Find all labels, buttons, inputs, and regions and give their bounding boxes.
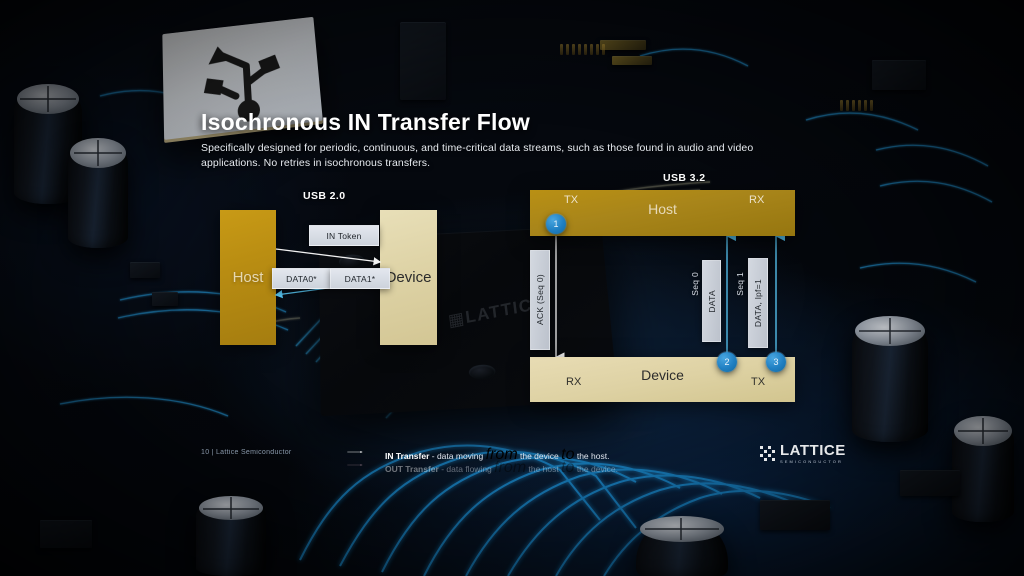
usb3-host-rx-port: RX	[749, 194, 764, 206]
step-badge-3: 3	[766, 352, 786, 372]
usb2-packet-data1: DATA1*	[330, 268, 390, 289]
slide-footer: 10 | Lattice Semiconductor	[201, 449, 292, 456]
usb3-label-seq0: Seq 0	[690, 272, 700, 296]
legend-in-arrow-icon	[332, 451, 378, 453]
usb3-host-tx-port: TX	[564, 194, 578, 206]
legend-out-em2: to	[561, 459, 574, 476]
usb3-device-tx-port: TX	[751, 376, 765, 388]
usb3-packet-data: DATA	[702, 260, 721, 342]
lattice-logo: LATTICE SEMICONDUCTOR	[760, 443, 846, 464]
usb2-packet-in-token: IN Token	[309, 225, 379, 246]
step-badge-1: 1	[546, 214, 566, 234]
legend-out-mid: the host	[526, 464, 561, 474]
slide-root: ▦LATTICE Isochronous IN Transf	[0, 0, 1024, 576]
usb3-packet-ack: ACK (Seq 0)	[530, 250, 550, 350]
legend-row-out: OUT Transfer - data flowing from the hos…	[385, 459, 618, 472]
step-badge-2: 2	[717, 352, 737, 372]
legend-out-pre: - data flowing	[439, 464, 494, 474]
usb2-arrows	[0, 0, 1024, 576]
usb3-label-seq1: Seq 1	[735, 272, 745, 296]
legend-row-in: IN Transfer - data moving from the devic…	[385, 446, 618, 459]
legend: IN Transfer - data moving from the devic…	[385, 446, 618, 472]
legend-out-arrow-icon	[332, 464, 378, 466]
lattice-name: LATTICE	[780, 442, 846, 459]
usb3-packet-data-lpf: DATA, lpf=1	[748, 258, 768, 348]
legend-out-em1: from	[494, 459, 526, 476]
legend-out-term: OUT Transfer	[385, 464, 439, 474]
usb3-section-label: USB 3.2	[663, 172, 705, 184]
lattice-mark-icon	[760, 446, 775, 461]
slide-content: Isochronous IN Transfer Flow Specificall…	[0, 0, 1024, 576]
usb2-packet-data0: DATA0*	[272, 268, 331, 289]
usb3-device-rx-port: RX	[566, 376, 581, 388]
legend-out-post: the device.	[574, 464, 617, 474]
lattice-sub: SEMICONDUCTOR	[780, 460, 846, 464]
